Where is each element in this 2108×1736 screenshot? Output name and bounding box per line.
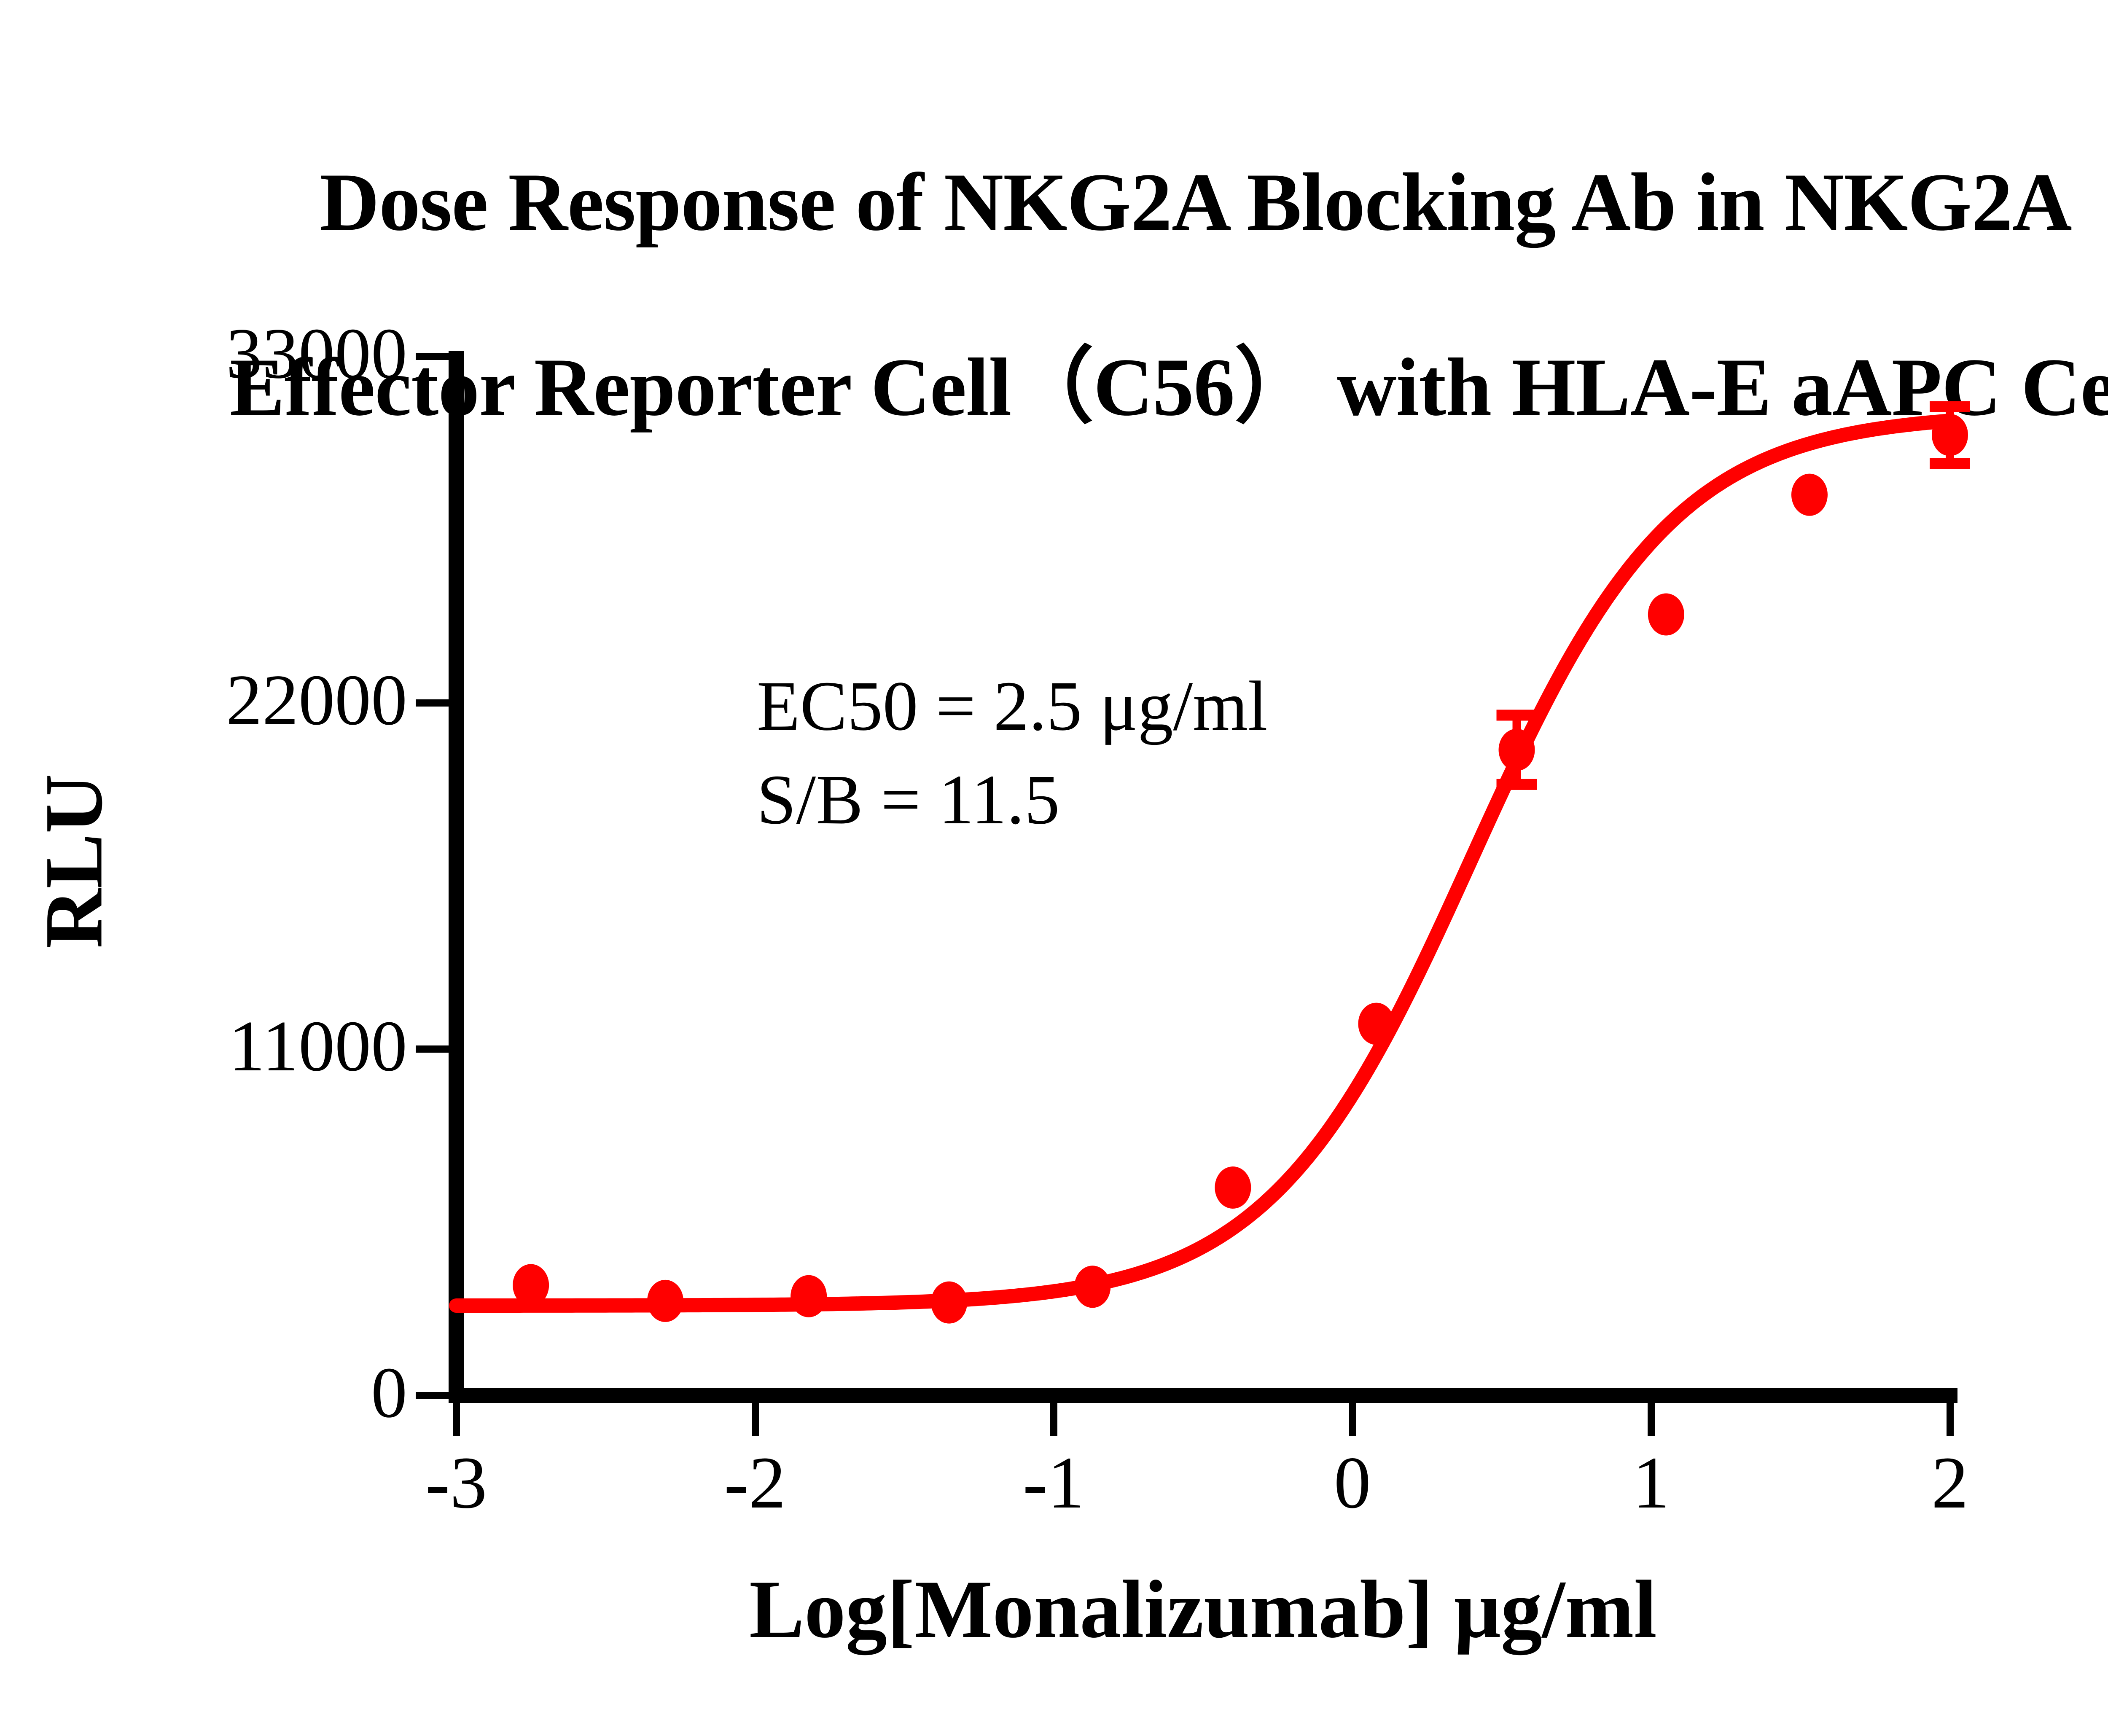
fit-curve [456, 421, 1950, 1306]
y-axis-title: RLU [27, 701, 121, 1021]
chart-root: Dose Response of NKG2A Blocking Ab in NK… [0, 0, 2108, 1736]
y-tick-label: 22000 [226, 664, 407, 736]
y-tick-label: 11000 [229, 1010, 407, 1083]
x-tick-label: -2 [724, 1446, 786, 1520]
x-tick-label: -3 [425, 1446, 487, 1520]
chart-title: Dose Response of NKG2A Blocking Ab in NK… [0, 63, 2108, 526]
annotation-ec50: EC50 = 2.5 μg/ml [757, 660, 1268, 753]
data-point-marker [931, 1282, 967, 1324]
y-tick-label: 0 [371, 1357, 407, 1429]
fit-curve-path [456, 421, 1950, 1306]
y-tick-mark [416, 353, 449, 360]
x-tick-mark [1648, 1403, 1655, 1436]
y-tick-mark [416, 699, 449, 707]
data-point-marker [1648, 594, 1684, 636]
x-tick-label: 1 [1632, 1446, 1670, 1520]
x-tick-label: 0 [1334, 1446, 1371, 1520]
data-point-marker [1074, 1266, 1110, 1308]
y-tick-mark [416, 1045, 449, 1053]
x-axis-line [449, 1388, 1957, 1403]
data-point-marker [1358, 1003, 1394, 1045]
data-markers [513, 414, 1968, 1324]
x-tick-label: 2 [1931, 1446, 1968, 1520]
data-point-marker [513, 1264, 549, 1306]
data-point-marker [1499, 729, 1535, 771]
x-tick-mark [1349, 1403, 1356, 1436]
y-axis-line [449, 351, 464, 1402]
x-tick-mark [1050, 1403, 1057, 1436]
data-point-marker [1215, 1166, 1251, 1209]
x-axis-title: Log[Monalizumab] μg/ml [456, 1562, 1950, 1657]
data-point-marker [790, 1275, 827, 1317]
annotation-block: EC50 = 2.5 μg/ml S/B = 11.5 [757, 660, 1268, 847]
x-tick-mark [1947, 1403, 1954, 1436]
data-point-marker [647, 1280, 683, 1322]
x-tick-mark [453, 1403, 460, 1436]
y-tick-label: 33000 [226, 317, 407, 390]
annotation-signal-background: S/B = 11.5 [757, 753, 1268, 847]
chart-title-line-1: Dose Response of NKG2A Blocking Ab in NK… [0, 156, 2108, 249]
y-tick-mark [416, 1392, 449, 1399]
x-tick-label: -1 [1023, 1446, 1085, 1520]
x-tick-mark [752, 1403, 759, 1436]
